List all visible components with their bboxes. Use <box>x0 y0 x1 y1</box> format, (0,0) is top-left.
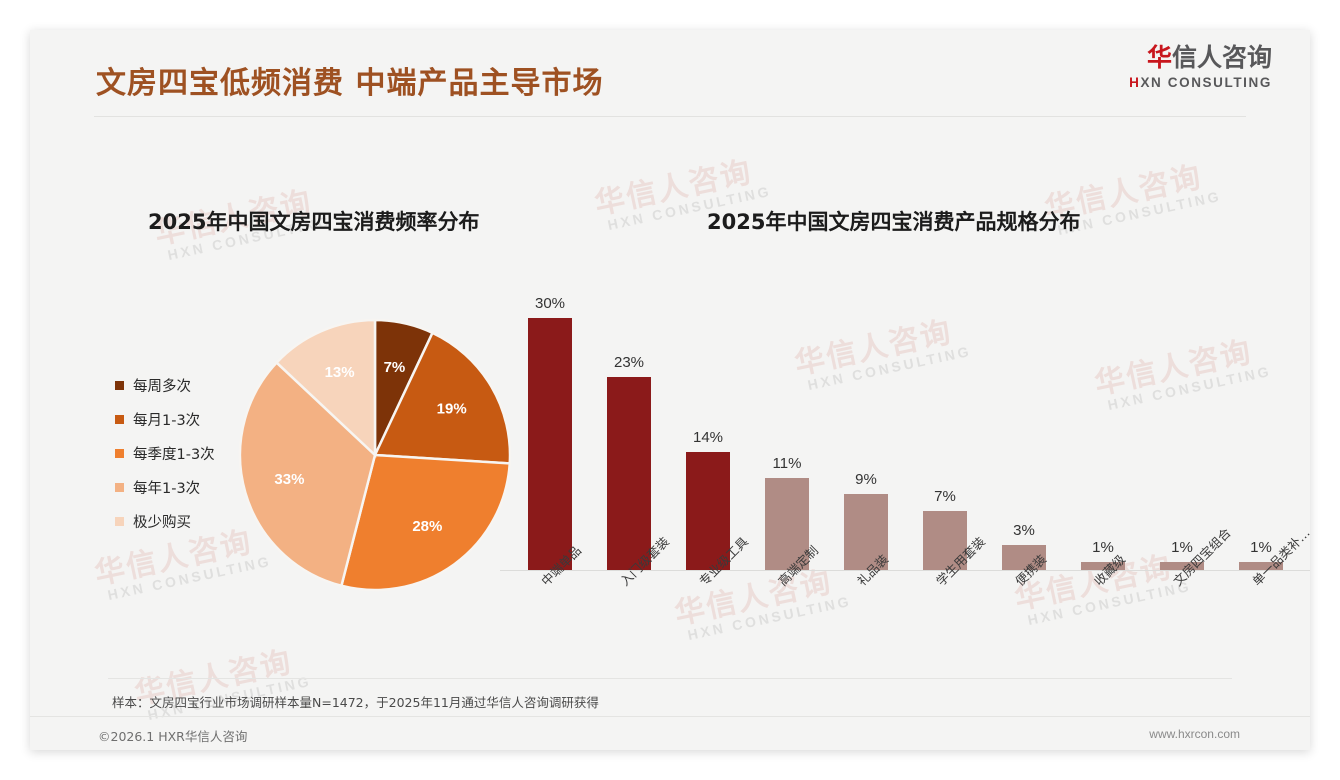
bar-group: 3% <box>1002 290 1046 570</box>
legend-swatch-icon <box>115 449 124 458</box>
pie-legend-label: 每年1-3次 <box>133 477 200 498</box>
bar-group: 1% <box>1160 290 1204 570</box>
slide-header: 文房四宝低频消费 中端产品主导市场 华信人咨询 HXN CONSULTING <box>30 30 1310 126</box>
pie-legend-label: 极少购买 <box>133 511 191 532</box>
bar-group: 30% <box>528 290 572 570</box>
pie-legend-label: 每季度1-3次 <box>133 443 215 464</box>
watermark-7: 华信人咨询HXN CONSULTING <box>130 634 313 725</box>
copyright-text: ©2026.1 HXR华信人咨询 <box>98 726 247 745</box>
bar-group: 1% <box>1239 290 1283 570</box>
bar-group: 7% <box>923 290 967 570</box>
bar-value-label: 3% <box>1013 522 1035 539</box>
page-title: 文房四宝低频消费 中端产品主导市场 <box>96 58 603 102</box>
logo-rest-chars: 信人咨询 <box>1172 43 1272 72</box>
source-footnote: 样本：文房四宝行业市场调研样本量N=1472，于2025年11月通过华信人咨询调… <box>112 692 599 711</box>
pie-slice-label: 19% <box>437 401 467 418</box>
pie-slice-label: 33% <box>274 471 304 488</box>
logo-chinese-text: 华信人咨询 <box>1129 44 1272 72</box>
bar-plot-area: 30%23%14%11%9%7%3%1%1%1% <box>510 290 1310 570</box>
logo-hua-char: 华 <box>1147 43 1172 72</box>
watermark-en-text: HXN CONSULTING <box>1056 188 1223 238</box>
pie-chart-title: 2025年中国文房四宝消费频率分布 <box>148 206 479 236</box>
pie-slice-label: 13% <box>325 364 355 381</box>
pie-legend-item[interactable]: 每年1-3次 <box>115 470 215 504</box>
bar-group: 1% <box>1081 290 1125 570</box>
legend-swatch-icon <box>115 415 124 424</box>
bar-group: 23% <box>607 290 651 570</box>
bar-rect[interactable] <box>528 318 572 570</box>
pie-legend-item[interactable]: 极少购买 <box>115 504 215 538</box>
company-logo: 华信人咨询 HXN CONSULTING <box>1129 44 1272 90</box>
slide-footer: ©2026.1 HXR华信人咨询 www.hxrcon.com <box>30 716 1310 750</box>
bar-value-label: 14% <box>693 429 723 446</box>
legend-swatch-icon <box>115 517 124 526</box>
logo-en-rest: XN CONSULTING <box>1140 75 1272 90</box>
bar-chart-title: 2025年中国文房四宝消费产品规格分布 <box>707 206 1080 236</box>
pie-legend: 每周多次每月1-3次每季度1-3次每年1-3次极少购买 <box>115 368 215 538</box>
bar-value-label: 23% <box>614 354 644 371</box>
pie-slice-label: 7% <box>384 359 406 376</box>
legend-swatch-icon <box>115 483 124 492</box>
bar-group: 11% <box>765 290 809 570</box>
logo-english-text: HXN CONSULTING <box>1129 75 1272 90</box>
footnote-divider <box>108 678 1232 679</box>
pie-legend-item[interactable]: 每周多次 <box>115 368 215 402</box>
pie-legend-label: 每月1-3次 <box>133 409 200 430</box>
pie-legend-item[interactable]: 每月1-3次 <box>115 402 215 436</box>
logo-h-char: H <box>1129 75 1140 90</box>
bar-rect[interactable] <box>607 377 651 570</box>
bar-group: 9% <box>844 290 888 570</box>
bar-chart-panel: 30%23%14%11%9%7%3%1%1%1% 中端单品入门级套装专业级工具高… <box>500 260 1310 660</box>
bar-value-label: 11% <box>773 455 802 472</box>
website-url[interactable]: www.hxrcon.com <box>1149 727 1240 741</box>
legend-swatch-icon <box>115 381 124 390</box>
pie-legend-item[interactable]: 每季度1-3次 <box>115 436 215 470</box>
pie-chart-svg: 7%19%28%33%13% <box>235 315 515 595</box>
pie-slice-label: 28% <box>412 518 442 535</box>
pie-legend-label: 每周多次 <box>133 375 191 396</box>
bar-value-label: 30% <box>535 295 565 312</box>
slide-canvas: 华信人咨询HXN CONSULTING华信人咨询HXN CONSULTING华信… <box>30 30 1310 750</box>
bar-value-label: 9% <box>855 471 877 488</box>
header-divider <box>94 116 1246 117</box>
bar-value-label: 7% <box>934 488 956 505</box>
bar-group: 14% <box>686 290 730 570</box>
